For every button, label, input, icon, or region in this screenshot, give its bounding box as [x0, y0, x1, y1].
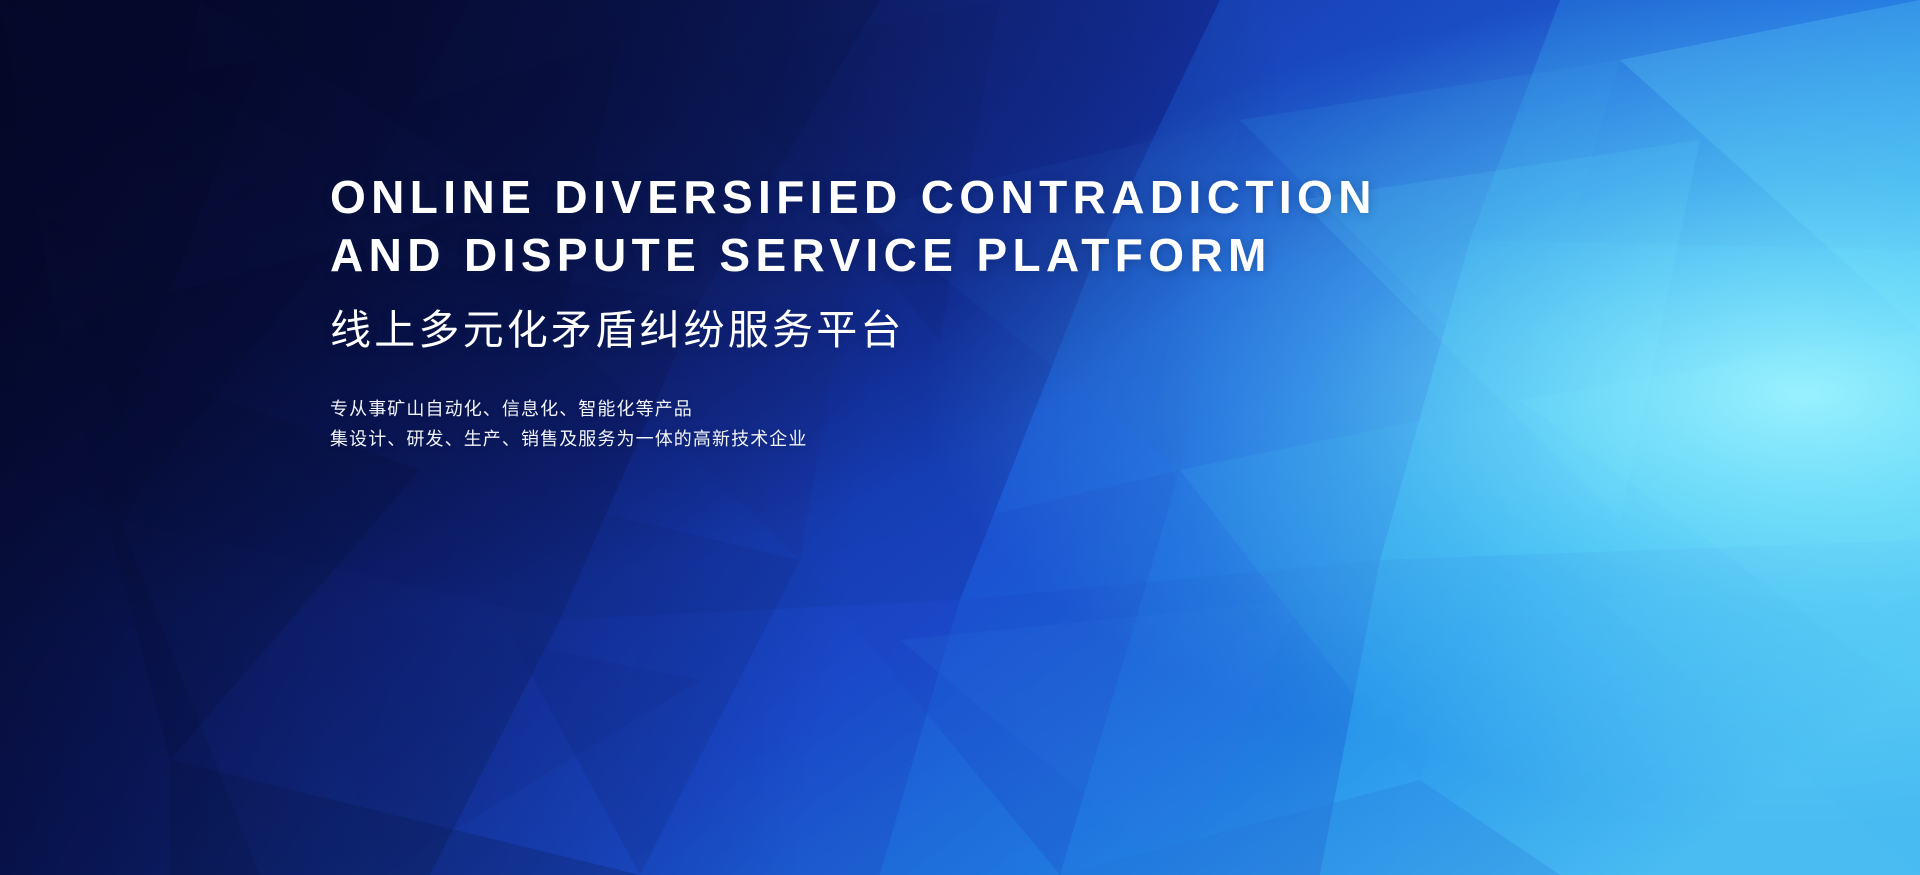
hero-body-line-2: 集设计、研发、生产、销售及服务为一体的高新技术企业	[330, 424, 1480, 454]
hero-banner: ONLINE DIVERSIFIED CONTRADICTION AND DIS…	[0, 0, 1920, 875]
hero-chinese-title: 线上多元化矛盾纠纷服务平台	[330, 304, 1480, 356]
hero-copy-block: ONLINE DIVERSIFIED CONTRADICTION AND DIS…	[330, 168, 1480, 454]
hero-headline-line-1: ONLINE DIVERSIFIED CONTRADICTION	[330, 168, 1480, 226]
hero-body-text: 专从事矿山自动化、信息化、智能化等产品 集设计、研发、生产、销售及服务为一体的高…	[330, 394, 1480, 454]
hero-headline-line-2: AND DISPUTE SERVICE PLATFORM	[330, 226, 1480, 284]
hero-body-line-1: 专从事矿山自动化、信息化、智能化等产品	[330, 394, 1480, 424]
